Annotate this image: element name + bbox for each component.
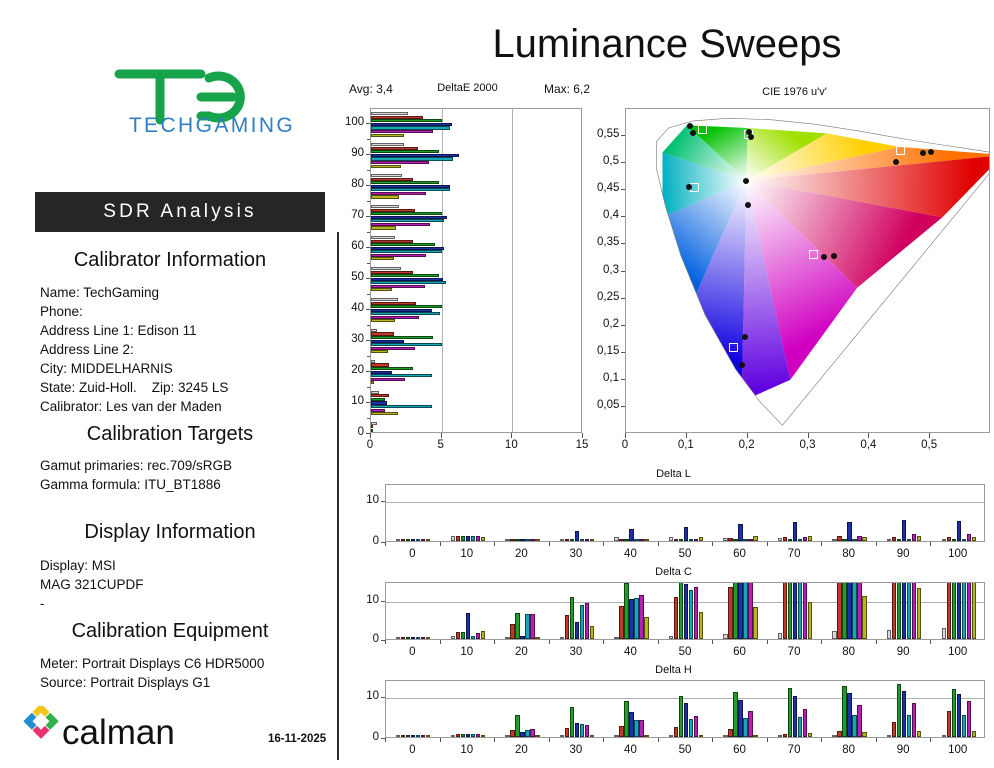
dH-bar-red-70	[783, 734, 787, 737]
dH-bar-yellow-80	[862, 732, 866, 737]
deltae-max-label: Max: 6,2	[544, 82, 590, 96]
gamma-formula: Gamma formula: ITU_BT1886	[40, 477, 221, 492]
dC-bar-blue-20	[520, 636, 524, 639]
dL-bar-yellow-70	[808, 536, 812, 541]
dC-bar-cyan-100	[962, 582, 966, 639]
dC-bar-white-0	[396, 637, 400, 639]
axis-tick	[440, 640, 441, 644]
axis-tick	[747, 433, 748, 438]
dH-xtick: 80	[833, 744, 865, 756]
section-title-display-information: Display Information	[0, 521, 340, 544]
deltae-bar-yellow-100	[371, 134, 404, 137]
axis-tick	[440, 738, 441, 742]
dH-bar-red-100	[947, 711, 951, 738]
dH-bar-yellow-40	[644, 735, 648, 737]
dH-bar-cyan-30	[580, 724, 584, 737]
axis-tick	[366, 216, 370, 217]
dC-bar-magenta-50	[694, 587, 698, 639]
axis-tick	[366, 185, 370, 186]
dL-bar-cyan-100	[962, 539, 966, 541]
dC-bar-magenta-90	[912, 582, 916, 639]
dL-bar-yellow-10	[481, 537, 485, 541]
dL-bar-yellow-20	[535, 539, 539, 541]
dH-bar-red-80	[837, 731, 841, 737]
dH-bar-magenta-20	[530, 729, 534, 737]
axis-tick	[929, 433, 930, 438]
calibrator-person: Calibrator: Les van der Maden	[40, 399, 222, 414]
dL-bar-white-10	[451, 536, 455, 541]
dC-bar-cyan-30	[580, 605, 584, 639]
calibrator-name: Name: TechGaming	[40, 285, 159, 300]
deltae-ytick: 10	[345, 395, 364, 407]
calibrator-phone: Phone:	[40, 304, 83, 319]
dL-bar-green-0	[406, 539, 410, 541]
dH-bar-yellow-70	[808, 733, 812, 737]
dL-bar-yellow-40	[644, 539, 648, 541]
dL-bar-cyan-50	[689, 539, 693, 541]
axis-tick	[549, 542, 550, 546]
dH-bar-cyan-60	[743, 718, 747, 737]
dC-bar-yellow-70	[808, 602, 812, 639]
delta-l-title: Delta L	[355, 468, 992, 480]
deltae-ytick: 100	[345, 116, 364, 128]
dC-bar-green-80	[842, 582, 846, 639]
dH-bar-green-30	[570, 707, 574, 737]
axis-tick	[625, 433, 626, 438]
dL-bar-cyan-40	[634, 539, 638, 541]
dC-bar-magenta-30	[585, 603, 589, 639]
dC-bar-blue-10	[466, 613, 470, 639]
deltae-xtick: 15	[573, 439, 591, 451]
dH-bar-blue-0	[411, 735, 415, 737]
dC-bar-white-40	[614, 637, 618, 639]
dL-bar-magenta-70	[803, 537, 807, 541]
delta-h-chart: Delta H 0100102030405060708090100	[355, 664, 992, 760]
dH-xtick: 20	[505, 744, 537, 756]
dH-bar-green-0	[406, 735, 410, 737]
dH-bar-yellow-50	[699, 735, 703, 737]
dH-xtick: 30	[560, 744, 592, 756]
deltae-ytick: 40	[345, 302, 364, 314]
axis-tick	[821, 542, 822, 546]
axis-tick	[930, 640, 931, 644]
dL-bar-red-10	[456, 536, 460, 541]
dC-xtick: 30	[560, 646, 592, 658]
dH-bar-red-60	[728, 729, 732, 737]
dL-bar-white-0	[396, 539, 400, 541]
axis-tick	[621, 189, 625, 190]
dC-bar-cyan-90	[907, 582, 911, 639]
meter-info: Meter: Portrait Displays C6 HDR5000	[40, 656, 264, 671]
dC-bar-green-90	[897, 582, 901, 639]
dL-bar-green-100	[952, 539, 956, 541]
dH-bar-blue-80	[847, 693, 851, 737]
axis-tick	[366, 278, 370, 279]
axis-tick	[621, 352, 625, 353]
cie-1976-chart: CIE 1976 u'v' 00,10,20,30,40,50,050,10,1…	[597, 82, 992, 462]
axis-tick	[603, 738, 604, 742]
dL-bar-blue-40	[629, 529, 633, 541]
dH-bar-white-100	[942, 735, 946, 737]
dC-bar-blue-70	[793, 582, 797, 639]
dC-bar-red-80	[837, 582, 841, 639]
axis-tick	[808, 433, 809, 438]
dL-bar-magenta-80	[857, 536, 861, 541]
dH-bar-magenta-80	[857, 705, 861, 737]
dH-bar-magenta-30	[585, 725, 589, 737]
axis-tick	[366, 433, 370, 434]
dL-xtick: 100	[942, 548, 974, 560]
cie-xtick: 0	[611, 439, 639, 451]
dL-bar-yellow-60	[753, 536, 757, 541]
dH-bar-green-90	[897, 684, 901, 737]
axis-tick	[658, 640, 659, 644]
dC-bar-blue-80	[847, 582, 851, 639]
dH-bar-blue-100	[957, 694, 961, 738]
dC-xtick: 50	[669, 646, 701, 658]
cie-target-blue	[729, 343, 738, 352]
dL-bar-blue-100	[957, 521, 961, 541]
dC-bar-red-90	[892, 582, 896, 639]
deltae-ytick: 80	[345, 178, 364, 190]
axis-tick	[658, 738, 659, 742]
cie-xtick: 0,4	[854, 439, 882, 451]
cie-ytick: 0,25	[597, 291, 619, 303]
dH-bar-red-50	[674, 727, 678, 737]
dH-bar-cyan-0	[416, 735, 420, 737]
dC-bar-green-50	[679, 582, 683, 639]
deltae-2000-chart: Avg: 3,4 DeltaE 2000 Max: 6,2 0510150102…	[345, 82, 590, 462]
dH-bar-yellow-60	[753, 735, 757, 737]
dC-bar-white-90	[887, 630, 891, 639]
dC-xtick: 60	[724, 646, 756, 658]
dC-bar-red-0	[401, 637, 405, 639]
dC-bar-green-0	[406, 637, 410, 639]
cie-measured-cyan	[686, 184, 692, 190]
dL-bar-green-30	[570, 539, 574, 541]
dL-bar-yellow-50	[699, 537, 703, 541]
axis-tick	[712, 738, 713, 742]
dH-bar-cyan-50	[689, 719, 693, 737]
dH-xtick: 90	[887, 744, 919, 756]
axis-tick	[494, 738, 495, 742]
dC-bar-red-10	[456, 632, 460, 639]
dH-bar-magenta-90	[912, 703, 916, 737]
dC-bar-red-50	[674, 597, 678, 639]
delta-h-title: Delta H	[355, 664, 992, 676]
dC-bar-yellow-10	[481, 631, 485, 640]
axis-tick	[381, 501, 385, 502]
dC-xtick: 70	[778, 646, 810, 658]
cie-xtick: 0,1	[672, 439, 700, 451]
dL-bar-white-90	[887, 539, 891, 541]
axis-tick	[366, 309, 370, 310]
deltae-bar-yellow-40	[371, 319, 395, 322]
dL-bar-red-20	[510, 539, 514, 541]
dL-bar-red-40	[619, 539, 623, 541]
dH-bar-magenta-0	[421, 735, 425, 737]
axis-minor-tick	[367, 139, 370, 140]
dL-bar-yellow-90	[917, 536, 921, 541]
axis-tick	[549, 640, 550, 644]
dH-bar-white-30	[560, 735, 564, 737]
techgaming-logo: TECHGAMING	[105, 62, 320, 137]
dL-bar-cyan-0	[416, 539, 420, 541]
dC-bar-blue-50	[684, 584, 688, 639]
dL-bar-cyan-80	[852, 539, 856, 541]
dL-bar-blue-60	[738, 524, 742, 541]
dC-bar-blue-90	[902, 582, 906, 639]
display-extra: -	[40, 596, 45, 611]
dL-bar-white-30	[560, 539, 564, 541]
dL-bar-magenta-10	[476, 536, 480, 541]
dH-bar-cyan-40	[634, 720, 638, 737]
dC-bar-cyan-0	[416, 637, 420, 639]
cie-ytick: 0,45	[597, 182, 619, 194]
dH-bar-green-50	[679, 696, 683, 737]
dC-bar-yellow-90	[917, 588, 921, 639]
dL-bar-red-90	[892, 537, 896, 541]
dC-bar-red-100	[947, 582, 951, 639]
dH-bar-blue-70	[793, 696, 797, 737]
dC-bar-magenta-40	[639, 595, 643, 639]
dH-bar-white-20	[505, 735, 509, 737]
axis-tick	[767, 542, 768, 546]
dC-xtick: 90	[887, 646, 919, 658]
dC-bar-red-60	[728, 587, 732, 639]
sidebar-divider	[337, 232, 339, 760]
dL-bar-magenta-0	[421, 539, 425, 541]
deltae-ytick: 20	[345, 364, 364, 376]
dC-bar-yellow-100	[972, 582, 976, 639]
axis-tick	[511, 433, 512, 438]
axis-tick	[385, 738, 386, 742]
axis-tick	[603, 542, 604, 546]
dL-bar-white-40	[614, 537, 618, 541]
dC-bar-magenta-60	[748, 582, 752, 639]
dL-bar-magenta-20	[530, 539, 534, 541]
dL-bar-red-80	[837, 536, 841, 541]
dH-xtick: 60	[724, 744, 756, 756]
dH-bar-white-90	[887, 735, 891, 737]
deltae-bar-yellow-70	[371, 226, 396, 229]
dC-bar-cyan-10	[471, 636, 475, 639]
dL-bar-cyan-70	[798, 539, 802, 541]
axis-tick	[582, 433, 583, 438]
dC-bar-white-30	[560, 637, 564, 639]
dC-bar-blue-40	[629, 599, 633, 639]
axis-tick	[494, 542, 495, 546]
gridline	[386, 502, 985, 503]
dC-bar-magenta-100	[967, 582, 971, 639]
section-title-calibrator-information: Calibrator Information	[0, 249, 340, 272]
report-date: 16-11-2025	[268, 733, 326, 745]
dH-bar-yellow-0	[426, 735, 430, 737]
dL-bar-green-60	[733, 539, 737, 541]
dH-bar-red-90	[892, 722, 896, 737]
dC-xtick: 0	[396, 646, 428, 658]
dC-bar-red-70	[783, 582, 787, 639]
dH-bar-green-20	[515, 715, 519, 737]
dL-bar-blue-70	[793, 522, 797, 541]
cie-target-red	[896, 146, 905, 155]
dC-bar-green-20	[515, 613, 519, 639]
dC-bar-white-80	[832, 631, 836, 639]
cie-measured-green2	[690, 130, 696, 136]
dH-bar-blue-20	[520, 732, 524, 737]
axis-tick	[621, 162, 625, 163]
axis-tick	[366, 371, 370, 372]
axis-tick	[821, 640, 822, 644]
dC-xtick: 20	[505, 646, 537, 658]
dC-bar-yellow-0	[426, 637, 430, 639]
dL-bar-white-20	[505, 539, 509, 541]
dL-ytick: 10	[355, 494, 379, 506]
dC-bar-green-40	[624, 583, 628, 639]
dH-bar-cyan-20	[525, 730, 529, 737]
dH-bar-green-60	[733, 692, 737, 737]
dC-bar-white-10	[451, 636, 455, 639]
axis-tick	[712, 640, 713, 644]
dC-bar-yellow-60	[753, 607, 757, 639]
deltae-xtick: 10	[502, 439, 520, 451]
dH-xtick: 40	[614, 744, 646, 756]
deltae-bar-yellow-90	[371, 165, 401, 168]
dL-bar-green-80	[842, 539, 846, 541]
dL-xtick: 80	[833, 548, 865, 560]
dL-xtick: 90	[887, 548, 919, 560]
calibrator-state-zip: State: Zuid-Holl. Zip: 3245 LS	[40, 380, 228, 395]
axis-tick	[441, 433, 442, 438]
dH-bar-blue-10	[466, 734, 470, 737]
dH-bar-red-30	[565, 728, 569, 737]
dC-bar-green-10	[461, 632, 465, 639]
dL-bar-green-40	[624, 539, 628, 541]
dH-ytick: 10	[355, 690, 379, 702]
delta-c-title: Delta C	[355, 566, 992, 578]
axis-tick	[366, 402, 370, 403]
axis-tick	[930, 542, 931, 546]
cie-ytick: 0,3	[597, 264, 619, 276]
dL-bar-white-100	[942, 539, 946, 541]
dL-bar-green-20	[515, 539, 519, 541]
axis-tick	[621, 379, 625, 380]
dH-bar-green-80	[842, 686, 846, 737]
dC-bar-magenta-70	[803, 582, 807, 639]
dL-bar-red-50	[674, 539, 678, 541]
dC-bar-blue-0	[411, 637, 415, 639]
axis-tick	[366, 340, 370, 341]
axis-tick	[621, 298, 625, 299]
cie-plot-area	[625, 108, 990, 433]
cie-measured-white	[743, 178, 749, 184]
calibrator-address-2: Address Line 2:	[40, 342, 134, 357]
dL-bar-white-60	[723, 538, 727, 541]
dH-bar-magenta-100	[967, 701, 971, 737]
dL-bar-cyan-10	[471, 536, 475, 541]
dL-xtick: 60	[724, 548, 756, 560]
dL-bar-blue-90	[902, 520, 906, 541]
axis-tick	[621, 243, 625, 244]
dL-bar-blue-0	[411, 539, 415, 541]
dL-bar-magenta-30	[585, 539, 589, 541]
dC-bar-cyan-50	[689, 590, 693, 639]
deltae-ytick: 70	[345, 209, 364, 221]
dH-xtick: 10	[451, 744, 483, 756]
dH-bar-white-0	[396, 735, 400, 737]
dL-xtick: 30	[560, 548, 592, 560]
dH-bar-white-80	[832, 735, 836, 737]
cie-ytick: 0,2	[597, 318, 619, 330]
calibrator-address-1: Address Line 1: Edison 11	[40, 323, 197, 338]
cie-ytick: 0,15	[597, 345, 619, 357]
deltae-bar-magenta-20	[371, 378, 405, 381]
deltae-bar-yellow-30	[371, 350, 388, 353]
dC-bar-white-50	[669, 636, 673, 639]
deltae-xtick: 0	[361, 439, 379, 451]
dL-bar-yellow-0	[426, 539, 430, 541]
dC-bar-cyan-70	[798, 582, 802, 639]
cie-ytick: 0,1	[597, 372, 619, 384]
dL-bar-magenta-40	[639, 539, 643, 541]
dC-bar-white-60	[723, 634, 727, 639]
axis-minor-tick	[367, 232, 370, 233]
axis-tick	[366, 123, 370, 124]
dH-bar-red-20	[510, 730, 514, 737]
cie-ytick: 0,35	[597, 236, 619, 248]
dH-bar-white-10	[451, 735, 455, 737]
deltae-ytick: 90	[345, 147, 364, 159]
delta-c-chart: Delta C 0100102030405060708090100	[355, 566, 992, 662]
axis-minor-tick	[367, 387, 370, 388]
sdr-analysis-badge: SDR Analysis	[35, 192, 325, 232]
dL-xtick: 40	[614, 548, 646, 560]
cie-target-green	[698, 125, 707, 134]
axis-minor-tick	[367, 356, 370, 357]
dH-bar-blue-90	[902, 691, 906, 737]
axis-tick	[370, 433, 371, 438]
axis-tick	[621, 271, 625, 272]
dC-bar-yellow-50	[699, 612, 703, 639]
dH-bar-yellow-20	[535, 735, 539, 737]
deltae-bar-yellow-20	[371, 381, 374, 384]
gamut-primaries: Gamut primaries: rec.709/sRGB	[40, 458, 232, 473]
dC-xtick: 80	[833, 646, 865, 658]
delta-c-plot-area	[385, 582, 985, 640]
dL-bar-red-70	[783, 537, 787, 541]
calibrator-city: City: MIDDELHARNIS	[40, 361, 173, 376]
axis-minor-tick	[367, 201, 370, 202]
cie-measured-blue2	[739, 362, 745, 368]
dC-ytick: 10	[355, 594, 379, 606]
deltae-bar-yellow-60	[371, 257, 394, 260]
dH-bar-green-100	[952, 689, 956, 737]
dL-bar-green-10	[461, 536, 465, 541]
dH-bar-red-40	[619, 726, 623, 737]
axis-tick	[621, 135, 625, 136]
dC-bar-white-100	[942, 628, 946, 639]
dH-bar-red-10	[456, 734, 460, 737]
dH-bar-white-70	[778, 735, 782, 737]
display-model: MAG 321CUPDF	[40, 577, 144, 592]
dL-xtick: 20	[505, 548, 537, 560]
dL-bar-red-0	[401, 539, 405, 541]
cie-xtick: 0,3	[794, 439, 822, 451]
dC-bar-blue-60	[738, 582, 742, 639]
dL-xtick: 10	[451, 548, 483, 560]
axis-tick	[385, 640, 386, 644]
axis-tick	[366, 154, 370, 155]
